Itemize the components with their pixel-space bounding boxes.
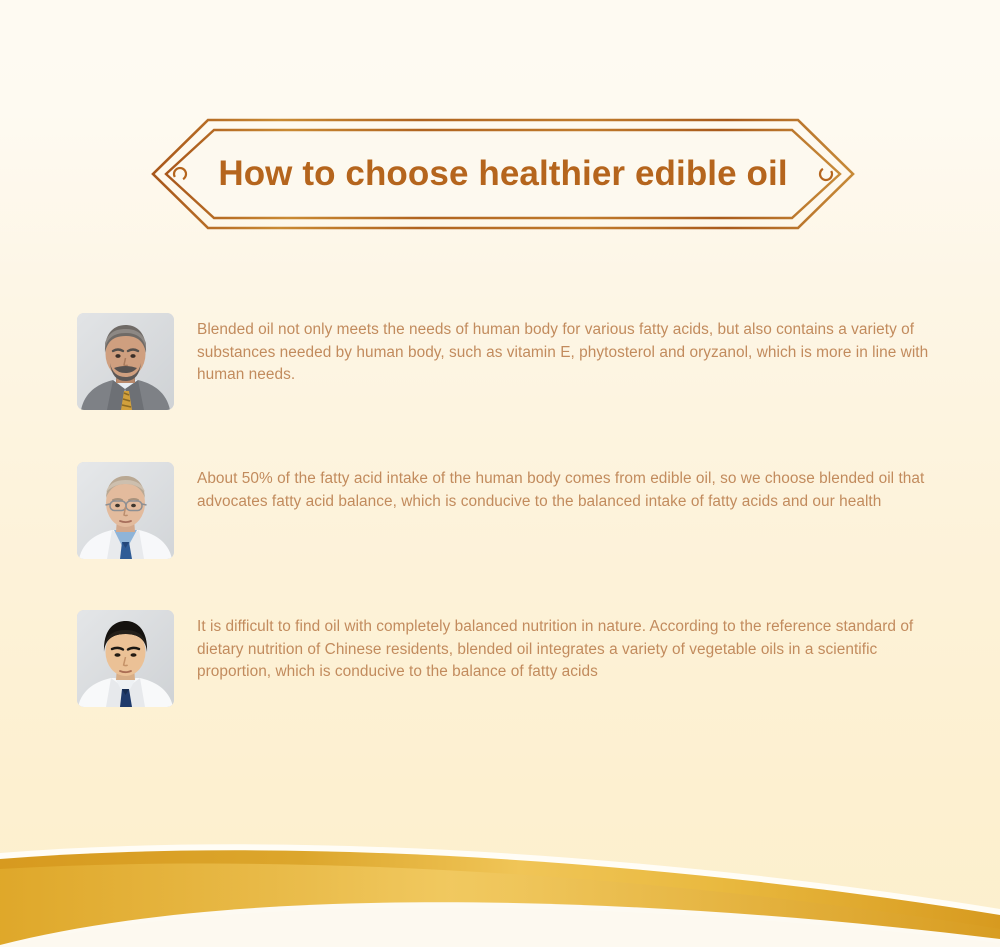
title-banner: How to choose healthier edible oil <box>150 118 856 230</box>
list-item: It is difficult to find oil with complet… <box>77 610 937 707</box>
page-title: How to choose healthier edible oil <box>150 118 856 230</box>
list-item-text: About 50% of the fatty acid intake of th… <box>197 462 937 513</box>
list-item-text: It is difficult to find oil with complet… <box>197 610 925 684</box>
list-item: Blended oil not only meets the needs of … <box>77 313 937 410</box>
list-item: About 50% of the fatty acid intake of th… <box>77 462 937 559</box>
poster-root: How to choose healthier edible oil <box>0 0 1000 947</box>
decorative-gold-wave <box>0 817 1000 947</box>
portrait-expert-2 <box>77 462 174 559</box>
list-item-text: Blended oil not only meets the needs of … <box>197 313 935 387</box>
portrait-expert-3 <box>77 610 174 707</box>
portrait-expert-1 <box>77 313 174 410</box>
